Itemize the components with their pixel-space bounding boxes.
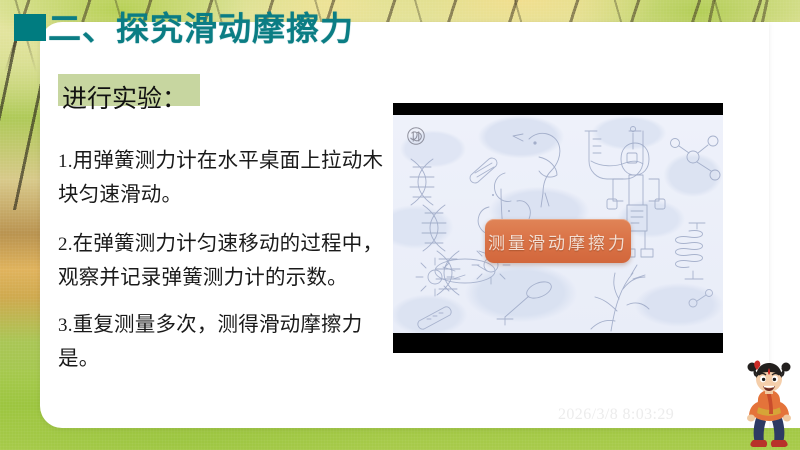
magnifier-doodle <box>497 279 554 325</box>
step-text-3: 重复测量多次，测得滑动摩擦力是。 <box>58 313 362 370</box>
thermometer-doodle <box>418 307 451 329</box>
plant-doodle <box>591 265 649 331</box>
test-tube-doodle <box>470 158 497 183</box>
dna-helix-doodle <box>410 159 460 295</box>
molecule-small-doodle <box>689 290 713 308</box>
experiment-text-column: 进行实验： 1.用弹簧测力计在水平桌面上拉动木块匀速滑动。 2.在弹簧测力计匀速… <box>58 74 388 375</box>
video-stage: 测量滑动摩擦力 <box>393 115 723 333</box>
step-text-2: 在弹簧测力计匀速移动的过程中，观察并记录弹簧测力计的示数。 <box>58 232 383 289</box>
measure-friction-button[interactable]: 测量滑动摩擦力 <box>485 219 631 263</box>
molecule-doodle <box>671 136 721 180</box>
bird-doodle <box>513 133 560 207</box>
step-item-2: 2.在弹簧测力计匀速移动的过程中，观察并记录弹簧测力计的示数。 <box>58 227 388 294</box>
step-number-2: 2. <box>58 234 73 255</box>
square-bullet-icon <box>14 14 46 41</box>
step-item-3: 3.重复测量多次，测得滑动摩擦力是。 <box>58 308 388 375</box>
spring-doodle <box>676 223 706 279</box>
watermark-logo-icon <box>405 125 427 147</box>
subheading-text: 进行实验： <box>62 82 187 116</box>
timestamp-label: 2026/3/8 8:03:29 <box>558 406 674 424</box>
beaker-doodle <box>585 131 643 179</box>
page-title: 二、探究滑动摩擦力 <box>48 8 354 50</box>
step-text-1: 用弹簧测力计在水平桌面上拉动木块匀速滑动。 <box>58 149 383 206</box>
step-number-3: 3. <box>58 315 73 336</box>
step-number-1: 1. <box>58 151 73 172</box>
subheading-block: 进行实验： <box>58 74 388 122</box>
video-letterbox-top <box>393 103 723 115</box>
cartoon-boy-mascot <box>742 360 796 448</box>
video-letterbox-bottom <box>393 333 723 353</box>
step-item-1: 1.用弹簧测力计在水平桌面上拉动木块匀速滑动。 <box>58 144 388 211</box>
slide-root: 二、探究滑动摩擦力 进行实验： 1.用弹簧测力计在水平桌面上拉动木块匀速滑动。 … <box>0 0 800 450</box>
video-panel[interactable]: 测量滑动摩擦力 <box>393 103 723 353</box>
measure-friction-button-label: 测量滑动摩擦力 <box>488 229 628 254</box>
